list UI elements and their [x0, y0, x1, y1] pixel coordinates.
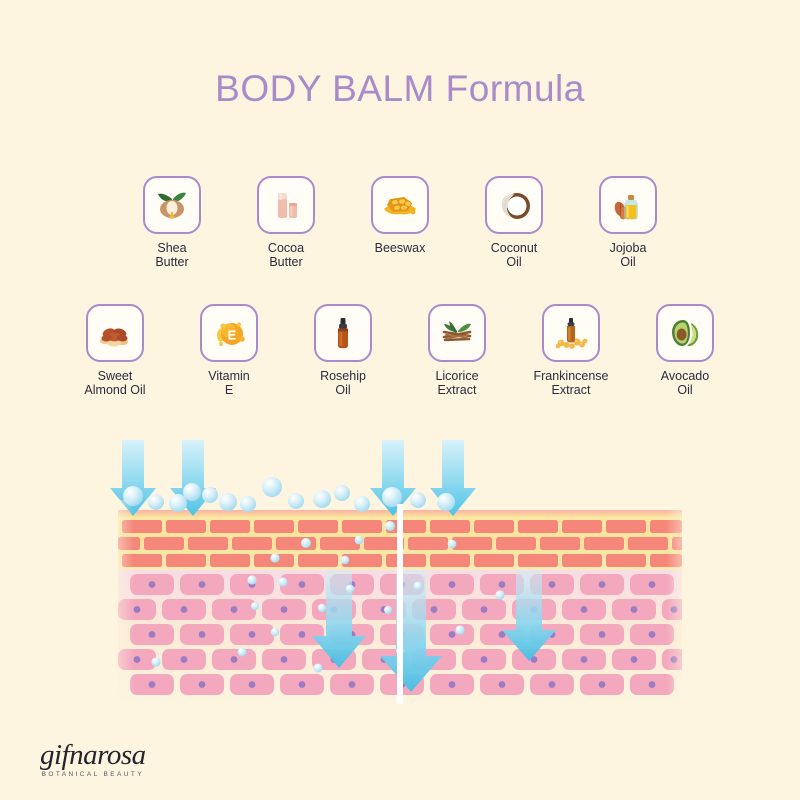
ingredient-card-beeswax[interactable]: Beeswax: [364, 176, 436, 255]
ingredient-card-rosehip-oil[interactable]: Rosehip Oil: [301, 304, 385, 397]
beeswax-icon: [371, 176, 429, 234]
avocado-oil-icon: [656, 304, 714, 362]
ingredient-label: Cocoa Butter: [268, 241, 304, 269]
ingredient-card-cocoa-butter[interactable]: Cocoa Butter: [250, 176, 322, 269]
cocoa-butter-icon: [257, 176, 315, 234]
svg-text:E: E: [228, 328, 237, 343]
ingredient-card-jojoba-oil[interactable]: Jojoba Oil: [592, 176, 664, 269]
licorice-extract-icon: [428, 304, 486, 362]
ingredient-label: Coconut Oil: [491, 241, 538, 269]
coconut-oil-icon: [485, 176, 543, 234]
ingredient-label: Sweet Almond Oil: [84, 369, 145, 397]
ingredient-label: Licorice Extract: [435, 369, 478, 397]
ingredient-card-avocado-oil[interactable]: Avocado Oil: [643, 304, 727, 397]
panel-divider: [397, 504, 403, 704]
ingredient-label: Vitamin E: [208, 369, 249, 397]
jojoba-oil-icon: [599, 176, 657, 234]
ingredient-label: Rosehip Oil: [320, 369, 366, 397]
ingredient-card-shea-butter[interactable]: Shea Butter: [136, 176, 208, 269]
ingredient-card-sweet-almond-oil[interactable]: Sweet Almond Oil: [73, 304, 157, 397]
skin-penetration-diagram: [100, 440, 700, 712]
rosehip-oil-icon: [314, 304, 372, 362]
logo-tagline: BOTANICAL BEAUTY: [40, 771, 146, 778]
logo-wordmark: gifnarosa: [40, 740, 146, 770]
infographic-canvas: BODY BALM Formula Shea Butter: [0, 0, 800, 800]
vitamin-e-icon: E: [200, 304, 258, 362]
ingredient-card-frankincense-extract[interactable]: Frankincense Extract: [529, 304, 613, 397]
ingredient-label: Avocado Oil: [661, 369, 709, 397]
shea-butter-icon: [143, 176, 201, 234]
frankincense-extract-icon: [542, 304, 600, 362]
ingredient-label: Shea Butter: [155, 241, 188, 269]
page-title: BODY BALM Formula: [0, 68, 800, 110]
ingredient-card-coconut-oil[interactable]: Coconut Oil: [478, 176, 550, 269]
ingredient-card-licorice-extract[interactable]: Licorice Extract: [415, 304, 499, 397]
ingredient-label: Frankincense Extract: [533, 369, 608, 397]
sweet-almond-oil-icon: [86, 304, 144, 362]
brand-logo: gifnarosa BOTANICAL BEAUTY: [40, 740, 146, 778]
ingredient-card-vitamin-e[interactable]: E Vitamin E: [187, 304, 271, 397]
ingredient-label: Jojoba Oil: [610, 241, 647, 269]
ingredient-label: Beeswax: [375, 241, 426, 255]
ingredient-row-2: Sweet Almond Oil E Vitamin E: [0, 304, 800, 397]
ingredient-row-1: Shea Butter Cocoa Butter: [0, 176, 800, 269]
